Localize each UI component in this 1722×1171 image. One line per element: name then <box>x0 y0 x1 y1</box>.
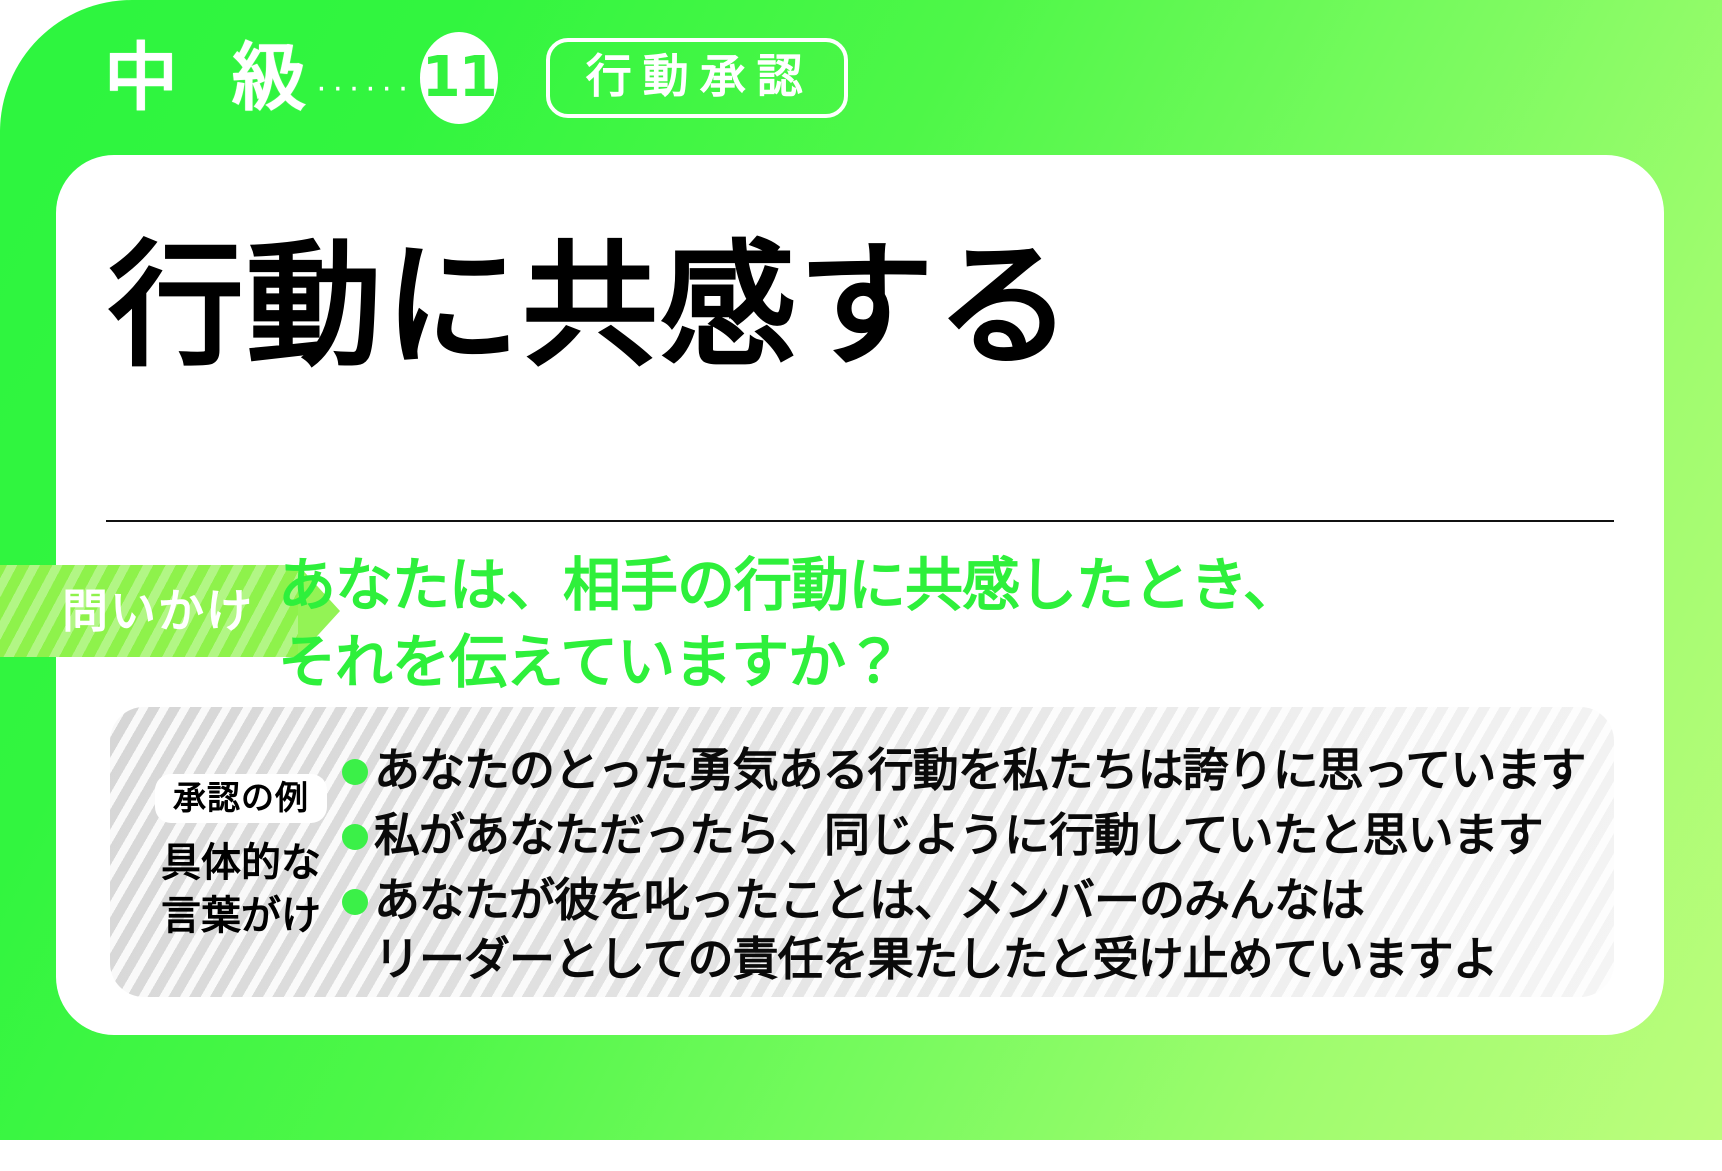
level-label: 中 級 <box>104 41 320 115</box>
lesson-number-badge: 11 <box>420 32 498 124</box>
examples-bullet-list: あなたのとった勇気ある行動を私たちは誇りに思っています 私があなただったら、同じ… <box>342 741 1602 995</box>
list-item-line: 私があなただったら、同じように行動していたと思います <box>374 806 1543 865</box>
lesson-number: 11 <box>422 50 496 106</box>
bullet-dot-icon <box>342 759 368 785</box>
examples-panel-left: 承認の例 具体的な 言葉がけ <box>110 707 372 997</box>
bullet-dot-icon <box>342 889 368 915</box>
list-item-text: あなたが彼を叱ったことは、メンバーのみんなは リーダーとしての責任を果たしたと受… <box>374 871 1498 989</box>
page-title: 行動に共感する <box>108 235 1074 378</box>
card-page: 中 級 ······ 11 行動承認 行動に共感する 問いかけ あなたは、相手の… <box>0 0 1722 1171</box>
examples-sub-label: 具体的な 言葉がけ <box>161 837 321 943</box>
list-item-line: あなたが彼を叱ったことは、メンバーのみんなは <box>374 871 1498 930</box>
list-item-text: あなたのとった勇気ある行動を私たちは誇りに思っています <box>374 741 1585 800</box>
question-line-2: それを伝えていますか？ <box>278 624 1300 701</box>
list-item-text: 私があなただったら、同じように行動していたと思います <box>374 806 1543 865</box>
dotted-leader: ······ <box>316 70 414 104</box>
examples-panel: 承認の例 具体的な 言葉がけ あなたのとった勇気ある行動を私たちは誇りに思ってい… <box>110 707 1614 997</box>
category-chip: 行動承認 <box>546 38 848 118</box>
content-card: 行動に共感する 問いかけ あなたは、相手の行動に共感したとき、 それを伝えていま… <box>56 155 1664 1035</box>
examples-sub-label-line-2: 言葉がけ <box>161 890 321 943</box>
header-bar: 中 級 ······ 11 行動承認 <box>0 0 1722 155</box>
list-item: 私があなただったら、同じように行動していたと思います <box>342 806 1602 865</box>
question-line-1: あなたは、相手の行動に共感したとき、 <box>278 547 1300 624</box>
list-item-line: あなたのとった勇気ある行動を私たちは誇りに思っています <box>374 741 1585 800</box>
list-item: あなたが彼を叱ったことは、メンバーのみんなは リーダーとしての責任を果たしたと受… <box>342 871 1602 989</box>
examples-sub-label-line-1: 具体的な <box>161 837 321 890</box>
list-item: あなたのとった勇気ある行動を私たちは誇りに思っています <box>342 741 1602 800</box>
question-text: あなたは、相手の行動に共感したとき、 それを伝えていますか？ <box>278 547 1300 701</box>
list-item-line: リーダーとしての責任を果たしたと受け止めていますよ <box>374 930 1498 989</box>
horizontal-divider <box>106 520 1614 522</box>
bullet-dot-icon <box>342 824 368 850</box>
examples-pill-label: 承認の例 <box>155 774 327 823</box>
question-tag: 問いかけ <box>0 565 298 657</box>
question-tag-label: 問いかけ <box>44 588 254 634</box>
